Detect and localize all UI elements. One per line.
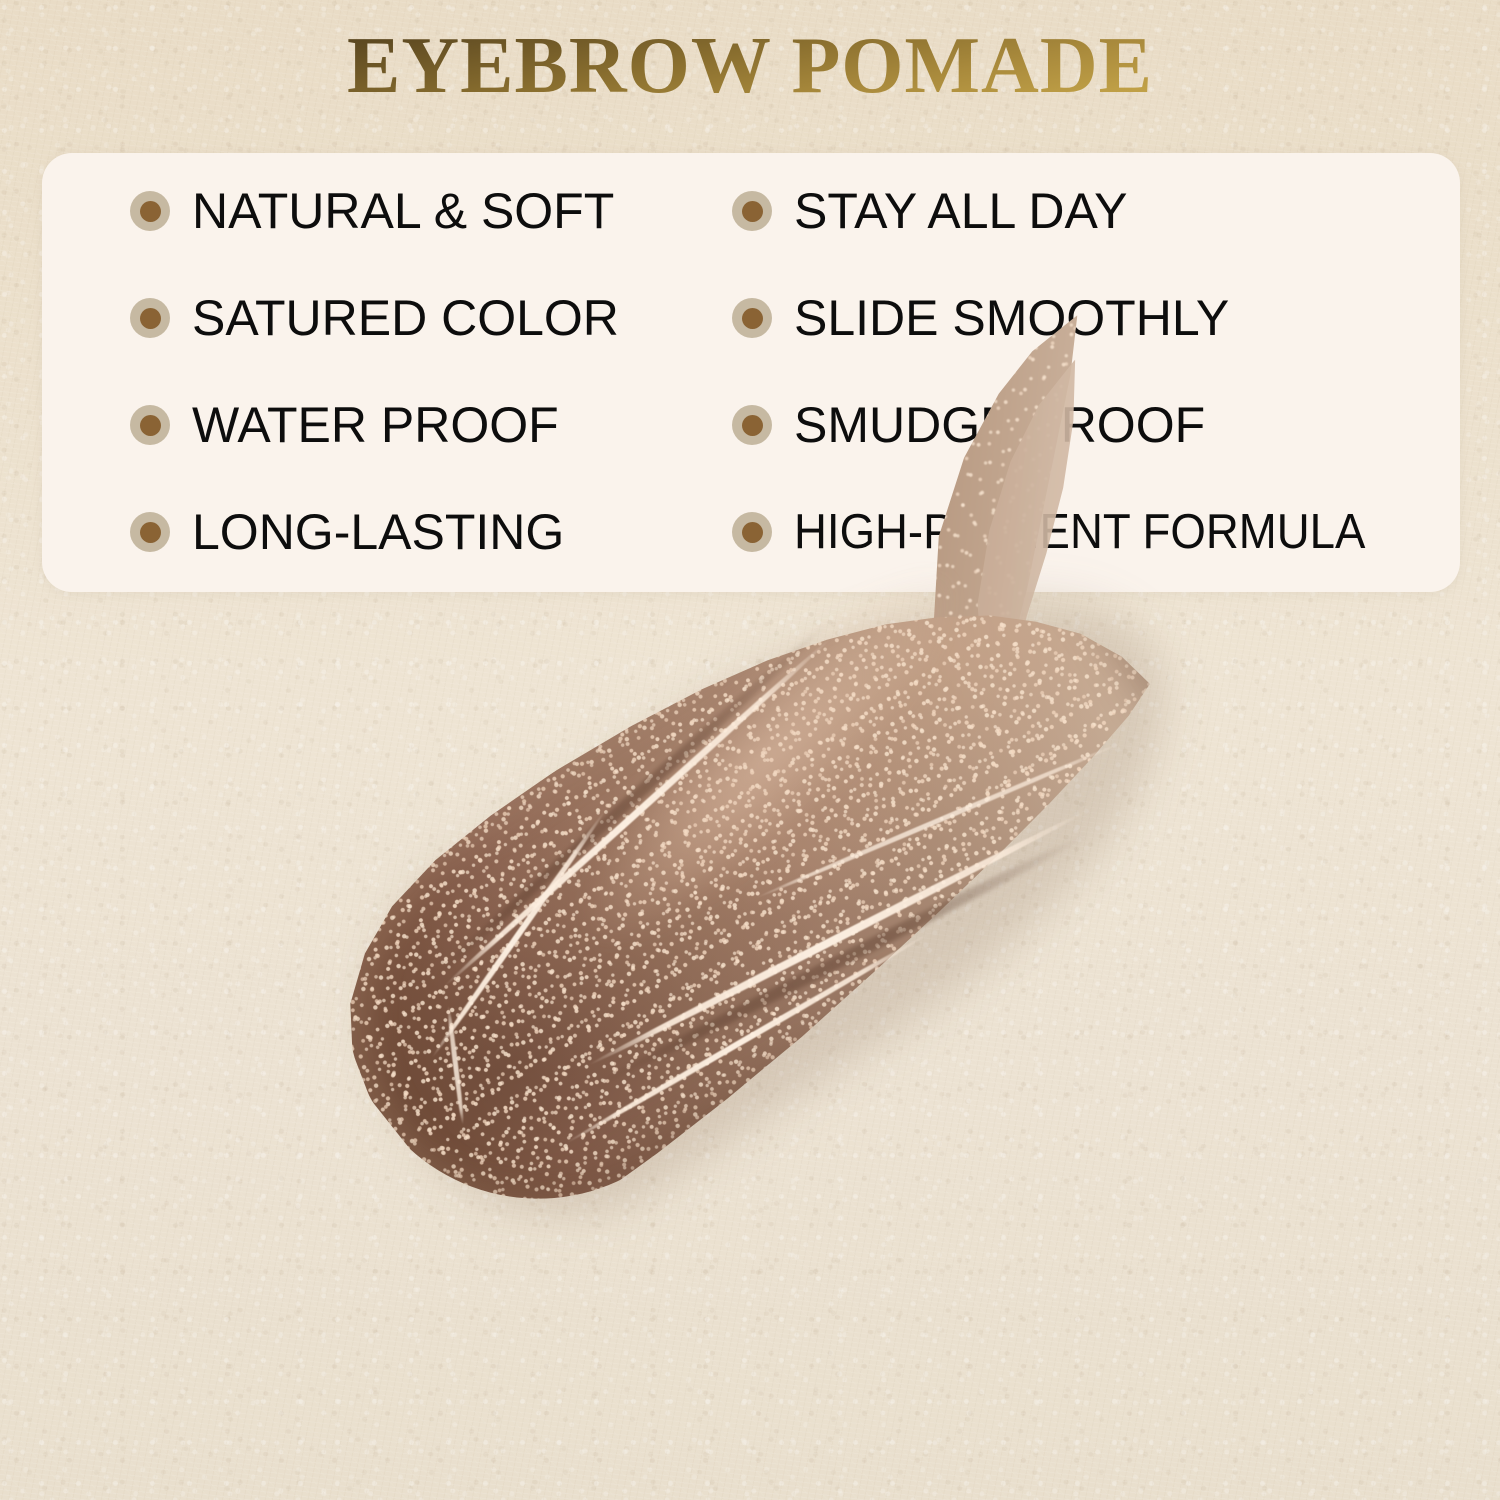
feature-label: SATURED COLOR bbox=[192, 291, 619, 345]
bullet-dot-icon bbox=[130, 512, 170, 552]
feature-item-slide-smoothly: SLIDE SMOOTHLY bbox=[732, 291, 1229, 345]
bullet-dot-icon bbox=[732, 512, 772, 552]
bullet-dot-icon bbox=[130, 405, 170, 445]
product-infographic: EYEBROW POMADE NATURAL & SOFT SATURED CO… bbox=[0, 0, 1500, 1500]
feature-item-water-proof: WATER PROOF bbox=[130, 398, 559, 452]
bullet-dot-icon bbox=[732, 298, 772, 338]
feature-list: NATURAL & SOFT SATURED COLOR WATER PROOF… bbox=[42, 153, 1460, 592]
bullet-dot-icon bbox=[130, 191, 170, 231]
feature-label: LONG-LASTING bbox=[192, 505, 564, 559]
bullet-dot-icon bbox=[130, 298, 170, 338]
feature-card: NATURAL & SOFT SATURED COLOR WATER PROOF… bbox=[42, 153, 1460, 592]
feature-item-satured-color: SATURED COLOR bbox=[130, 291, 619, 345]
feature-label: WATER PROOF bbox=[192, 398, 559, 452]
feature-label: SLIDE SMOOTHLY bbox=[794, 291, 1229, 345]
feature-item-stay-all-day: STAY ALL DAY bbox=[732, 184, 1128, 238]
product-swatch-image bbox=[250, 600, 1350, 1480]
feature-label: NATURAL & SOFT bbox=[192, 184, 614, 238]
feature-item-natural-and-soft: NATURAL & SOFT bbox=[130, 184, 614, 238]
bullet-dot-icon bbox=[732, 405, 772, 445]
bullet-dot-icon bbox=[732, 191, 772, 231]
feature-label: STAY ALL DAY bbox=[794, 184, 1128, 238]
page-title: EYEBROW POMADE bbox=[0, 26, 1500, 106]
feature-item-smudge-proof: SMUDGE PROOF bbox=[732, 398, 1205, 452]
feature-item-long-lasting: LONG-LASTING bbox=[130, 505, 564, 559]
